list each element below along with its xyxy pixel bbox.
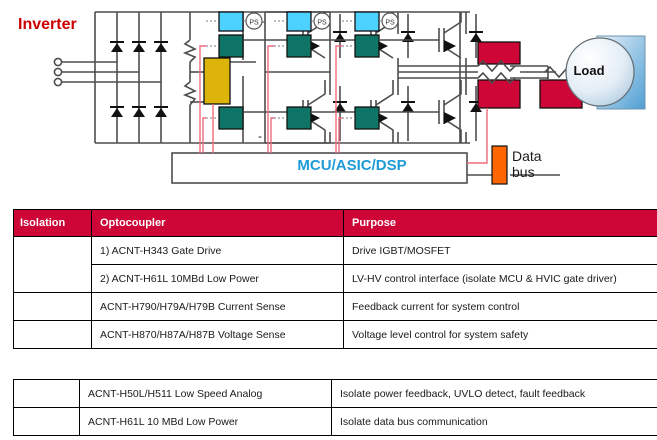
- table-header-row: Isolation Optocoupler Purpose: [14, 210, 657, 237]
- col-header-isolation: Isolation: [14, 210, 92, 237]
- gate-drive-optocoupler-3h: [355, 35, 379, 57]
- current-sense-optocoupler-b: [478, 80, 520, 108]
- gate-drive-optocoupler-2l: [287, 107, 311, 129]
- voltage-sense-optocoupler: [204, 58, 230, 104]
- col-header-optocoupler: Optocoupler: [92, 210, 344, 237]
- current-sense-optocoupler-a: [478, 42, 520, 64]
- inverter-title: Inverter: [18, 16, 77, 34]
- table-row: ACNT-H790/H79A/H79B Current Sense Feedba…: [14, 293, 657, 321]
- ps-text-2: PS: [317, 20, 327, 27]
- isolation-swatch-cell-data-bus: [14, 408, 80, 436]
- data-bus-line1: Data: [512, 148, 542, 164]
- optocoupler-cell: 2) ACNT-H61L 10MBd Low Power: [92, 265, 344, 293]
- table-row: ACNT-H50L/H511 Low Speed Analog Isolate …: [14, 380, 657, 408]
- isolation-swatch-cell-current-sense: [14, 293, 92, 321]
- data-bus-line2: bus: [512, 164, 542, 180]
- purpose-cell: LV-HV control interface (isolate MCU & H…: [344, 265, 657, 293]
- gate-drive-optocoupler-2h: [287, 35, 311, 57]
- data-bus-label: Data bus: [512, 148, 542, 180]
- purpose-cell: Isolate data bus communication: [332, 408, 657, 436]
- ac-input-terminals: [54, 58, 61, 85]
- load-label: Load: [559, 63, 619, 78]
- optocoupler-cell: 1) ACNT-H343 Gate Drive: [92, 237, 344, 265]
- low-speed-analog-optocoupler-3: [355, 12, 379, 31]
- optocoupler-cell: ACNT-H870/H87A/H87B Voltage Sense: [92, 321, 344, 349]
- gate-drive-optocoupler-3l: [355, 107, 379, 129]
- isolation-swatch-cell-voltage-sense: [14, 321, 92, 349]
- mcu-asic-dsp-label: MCU/ASIC/DSP: [237, 157, 467, 174]
- purpose-cell: Feedback current for system control: [344, 293, 657, 321]
- isolation-optocoupler-table: Isolation Optocoupler Purpose 1) ACNT-H3…: [13, 209, 657, 349]
- ps-text-3: PS: [385, 20, 395, 27]
- ps-text-1: PS: [249, 20, 259, 27]
- optocoupler-cell: ACNT-H61L 10 MBd Low Power: [80, 408, 332, 436]
- dc-minus-label: -: [258, 129, 262, 143]
- table-row: ACNT-H61L 10 MBd Low Power Isolate data …: [14, 408, 657, 436]
- gate-drive-optocoupler-1h: [219, 35, 243, 57]
- data-bus-optocoupler: [492, 146, 507, 184]
- table-row: 2) ACNT-H61L 10MBd Low Power LV-HV contr…: [14, 265, 657, 293]
- table-row: ACNT-H870/H87A/H87B Voltage Sense Voltag…: [14, 321, 657, 349]
- inverter-circuit-diagram: + -: [0, 0, 657, 200]
- isolation-swatch-cell-gate-drive: [14, 237, 92, 293]
- purpose-cell: Drive IGBT/MOSFET: [344, 237, 657, 265]
- gate-drive-optocoupler-1l: [219, 107, 243, 129]
- isolation-swatch-cell-low-speed: [14, 380, 80, 408]
- page-root: + -: [0, 0, 657, 440]
- low-speed-analog-optocoupler-2: [287, 12, 311, 31]
- optocoupler-cell: ACNT-H790/H79A/H79B Current Sense: [92, 293, 344, 321]
- table-row: 1) ACNT-H343 Gate Drive Drive IGBT/MOSFE…: [14, 237, 657, 265]
- low-speed-analog-optocoupler-1: [219, 12, 243, 31]
- optocoupler-cell: ACNT-H50L/H511 Low Speed Analog: [80, 380, 332, 408]
- purpose-cell: Voltage level control for system safety: [344, 321, 657, 349]
- col-header-purpose: Purpose: [344, 210, 657, 237]
- secondary-optocoupler-table: ACNT-H50L/H511 Low Speed Analog Isolate …: [13, 379, 657, 436]
- purpose-cell: Isolate power feedback, UVLO detect, fau…: [332, 380, 657, 408]
